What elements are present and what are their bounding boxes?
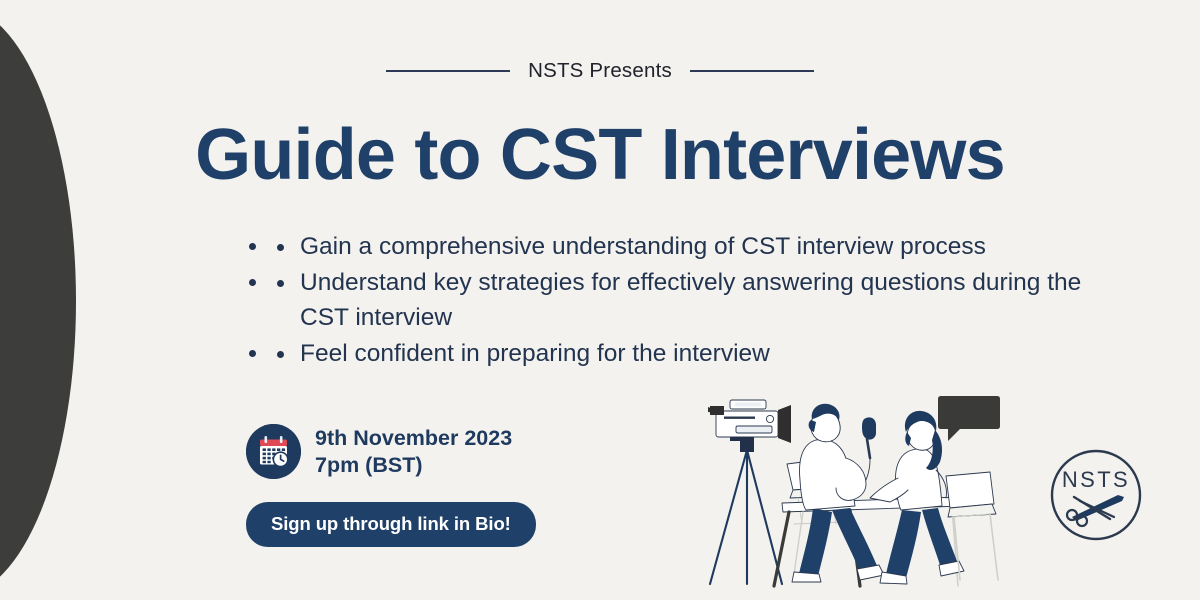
signup-button[interactable]: Sign up through link in Bio! bbox=[246, 502, 536, 547]
bullet-dot-icon bbox=[277, 244, 284, 251]
benefits-list: Gain a comprehensive understanding of CS… bbox=[270, 229, 1100, 371]
event-datetime-block: 9th November 2023 7pm (BST) bbox=[246, 424, 512, 479]
bullet-dot-icon bbox=[277, 280, 284, 287]
list-item: Feel confident in preparing for the inte… bbox=[270, 336, 1100, 372]
eyebrow-rule-right bbox=[690, 70, 814, 72]
svg-text:NSTS: NSTS bbox=[1062, 467, 1130, 492]
interview-filming-illustration bbox=[690, 388, 1010, 593]
bullet-dot-icon bbox=[277, 351, 284, 358]
event-datetime-text: 9th November 2023 7pm (BST) bbox=[315, 425, 512, 479]
eyebrow-label: NSTS Presents bbox=[528, 59, 672, 83]
list-item: Understand key strategies for effectivel… bbox=[270, 265, 1100, 336]
list-item-label: Gain a comprehensive understanding of CS… bbox=[300, 233, 986, 260]
event-time: 7pm (BST) bbox=[315, 452, 512, 479]
nsts-logo: NSTS bbox=[1044, 443, 1148, 547]
list-item-label: Feel confident in preparing for the inte… bbox=[300, 340, 770, 367]
eyebrow-rule-left bbox=[386, 70, 510, 72]
eyebrow-banner: NSTS Presents bbox=[0, 59, 1200, 83]
calendar-clock-icon bbox=[246, 424, 301, 479]
list-item-label: Understand key strategies for effectivel… bbox=[300, 269, 1081, 332]
poster-canvas: NSTS Presents Guide to CST Interviews Ga… bbox=[0, 0, 1200, 600]
page-title: Guide to CST Interviews bbox=[0, 118, 1200, 194]
decorative-left-arc bbox=[0, 6, 76, 596]
list-item: Gain a comprehensive understanding of CS… bbox=[270, 229, 1100, 265]
event-date: 9th November 2023 bbox=[315, 425, 512, 452]
